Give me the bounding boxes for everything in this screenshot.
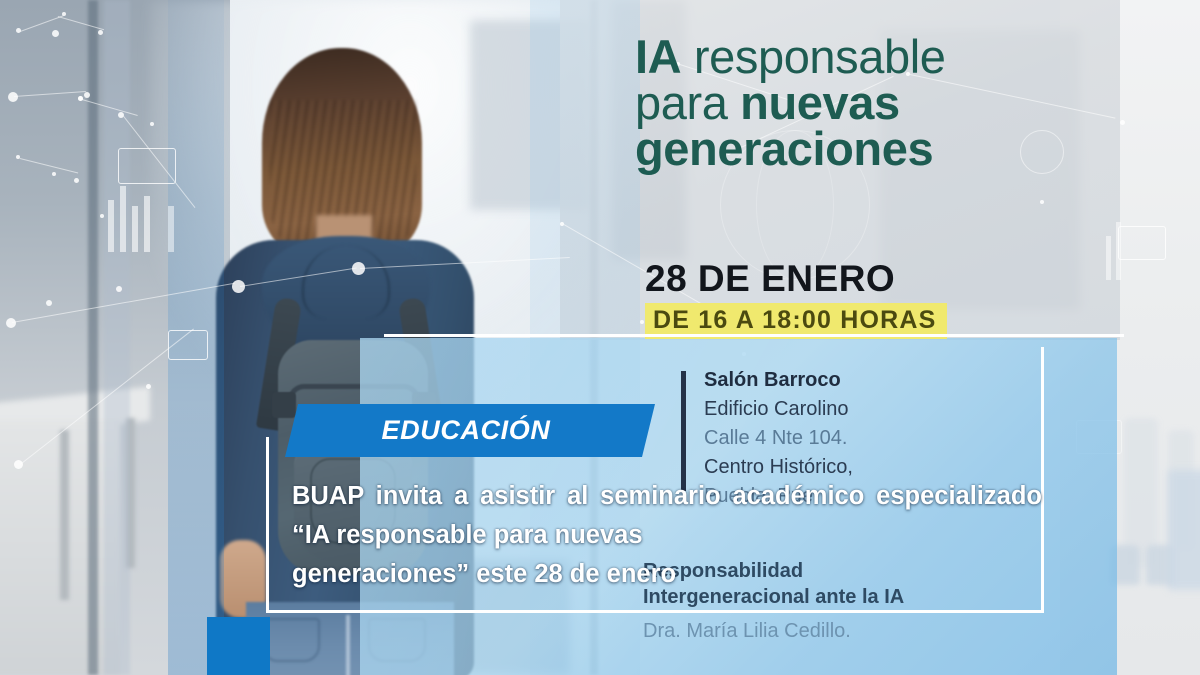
blue-tint-strip [168, 0, 224, 675]
category-badge-label: EDUCACIÓN [382, 415, 551, 446]
lab-bench-leg [60, 430, 69, 600]
poster-date: 28 DE ENERO [645, 258, 895, 300]
caption-line-3: generaciones” este 28 de enero [292, 555, 1042, 594]
promo-banner: IA responsable para nuevas generaciones … [0, 0, 1200, 675]
poster-speaker: Dra. María Lilia Cedillo. [643, 618, 1063, 644]
backpack-clip-left [272, 392, 296, 418]
headline-responsable: responsable [681, 30, 945, 83]
lab-panel-shape [1168, 470, 1200, 590]
headline-ia: IA [635, 30, 681, 83]
headline-nuevas: nuevas [740, 76, 900, 129]
figure-jeans-pocket-left [262, 618, 320, 662]
window-mullion [88, 0, 98, 675]
venue-room: Salón Barroco [704, 366, 1034, 395]
overlay-top-rule [384, 334, 1124, 337]
window-mullion [104, 0, 130, 675]
caption-line-1: BUAP invita a asistir al seminario acadé… [292, 482, 864, 510]
overlay-caption: BUAP invita a asistir al seminario acadé… [292, 477, 1042, 593]
accent-square [207, 617, 270, 675]
headline-generaciones: generaciones [635, 122, 933, 175]
category-badge[interactable]: EDUCACIÓN [285, 404, 655, 457]
venue-building: Edificio Carolino [704, 395, 1034, 424]
poster-headline: IA responsable para nuevas generaciones [635, 34, 1075, 172]
headline-para: para [635, 76, 740, 129]
figure-jeans-seam [346, 615, 350, 675]
